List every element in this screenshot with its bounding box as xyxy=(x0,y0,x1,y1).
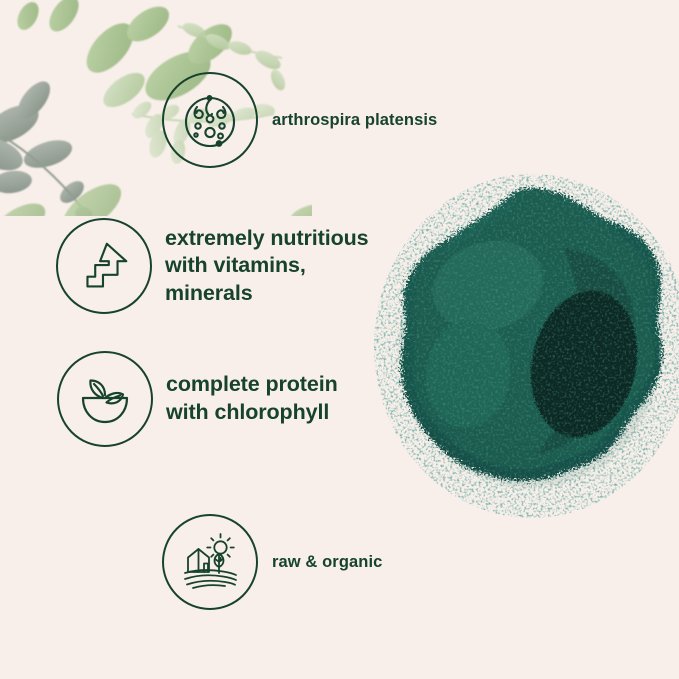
feature-row-raw-organic: raw & organic xyxy=(162,514,382,610)
feature-label-raw-organic: raw & organic xyxy=(272,552,382,573)
feature-row-arthrospira: arthrospira platensis xyxy=(162,72,437,168)
infographic-canvas: arthrospira platensis extremely nutritio… xyxy=(0,0,679,679)
spirulina-powder-pile xyxy=(372,158,679,528)
ascending-arrow-icon xyxy=(56,218,152,314)
feature-row-nutritious: extremely nutritious with vitamins, mine… xyxy=(56,218,369,314)
feature-label-nutritious: extremely nutritious with vitamins, mine… xyxy=(165,225,369,308)
microorganism-cell-icon xyxy=(162,72,258,168)
feature-row-protein: complete protein with chlorophyll xyxy=(57,351,338,447)
feature-label-arthrospira: arthrospira platensis xyxy=(272,110,437,131)
bowl-with-leaves-icon xyxy=(57,351,153,447)
feature-label-protein: complete protein with chlorophyll xyxy=(166,371,338,426)
farm-sun-field-icon xyxy=(162,514,258,610)
